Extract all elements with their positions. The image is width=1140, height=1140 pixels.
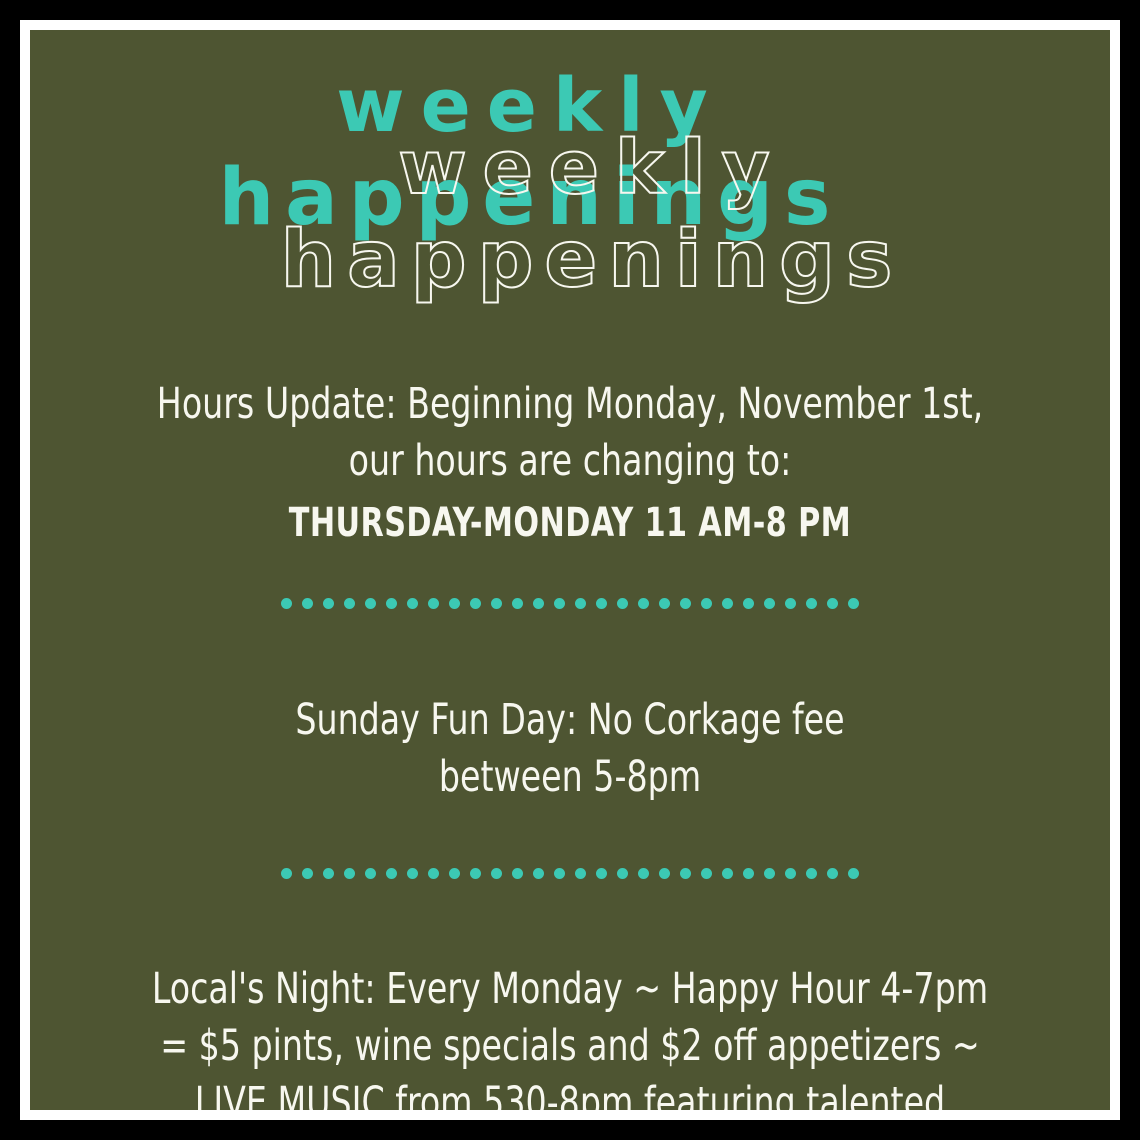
locals-line-1: Local's Night: Every Monday ~ Happy Hour… <box>106 961 1035 1018</box>
locals-lead: Local's Night <box>152 964 365 1014</box>
title-outline-line-1: weekly <box>52 122 1110 214</box>
divider-dot <box>575 868 586 879</box>
divider-dot <box>407 598 418 609</box>
sunday-line-1-rest: : No Corkage fee <box>566 695 845 745</box>
divider-dot <box>407 868 418 879</box>
divider-dot <box>617 868 628 879</box>
hours-line-2: our hours are changing to: <box>106 433 1035 490</box>
hours-schedule: THURSDAY-MONDAY 11 AM-8 PM <box>116 490 1023 552</box>
title-outline-line-2: happenings <box>52 214 1110 306</box>
divider-dot <box>512 868 523 879</box>
title-outline-layer: weekly happenings <box>52 122 1110 306</box>
divider-dot <box>680 598 691 609</box>
divider-dot <box>806 868 817 879</box>
divider-dot <box>785 868 796 879</box>
divider-dot <box>680 868 691 879</box>
divider-dot <box>428 598 439 609</box>
divider-dot <box>533 598 544 609</box>
poster-title: weekly happenings weekly happenings <box>30 60 1110 350</box>
divider-dot <box>344 868 355 879</box>
divider-dot <box>323 868 334 879</box>
divider-dot <box>848 598 859 609</box>
divider-dot <box>596 598 607 609</box>
divider-dot <box>722 598 733 609</box>
divider-dot <box>512 598 523 609</box>
divider-dot <box>470 868 481 879</box>
hours-line-1-rest: : Beginning Monday, November 1st, <box>385 379 983 429</box>
divider-dot <box>491 868 502 879</box>
divider-dot <box>428 868 439 879</box>
divider-dot <box>701 598 712 609</box>
hours-line-1: Hours Update: Beginning Monday, November… <box>106 376 1035 433</box>
divider-dot <box>491 598 502 609</box>
poster-canvas: weekly happenings weekly happenings Hour… <box>30 30 1110 1110</box>
divider-dot <box>365 868 376 879</box>
dotted-divider <box>30 868 1110 879</box>
divider-dot <box>386 868 397 879</box>
divider-dot <box>743 598 754 609</box>
divider-dot <box>659 598 670 609</box>
section-hours-update: Hours Update: Beginning Monday, November… <box>30 376 1110 552</box>
locals-line-3: LIVE MUSIC from 530-8pm featuring talent… <box>106 1075 1035 1110</box>
divider-dot <box>323 598 334 609</box>
divider-dot <box>827 868 838 879</box>
divider-dot <box>638 868 649 879</box>
divider-dot <box>554 868 565 879</box>
section-locals-night: Local's Night: Every Monday ~ Happy Hour… <box>30 961 1110 1110</box>
divider-dot <box>575 598 586 609</box>
hours-lead: Hours Update <box>157 379 386 429</box>
divider-dot <box>806 598 817 609</box>
divider-dot <box>302 868 313 879</box>
divider-dot <box>827 598 838 609</box>
sunday-line-2: between 5-8pm <box>106 749 1035 806</box>
divider-dot <box>596 868 607 879</box>
divider-dot <box>533 868 544 879</box>
divider-dot <box>785 598 796 609</box>
locals-line-1-rest: : Every Monday ~ Happy Hour 4-7pm <box>364 964 988 1014</box>
divider-dot <box>281 598 292 609</box>
divider-dot <box>848 868 859 879</box>
poster-content: Hours Update: Beginning Monday, November… <box>30 360 1110 1110</box>
divider-dot <box>743 868 754 879</box>
divider-dot <box>554 598 565 609</box>
divider-dot <box>365 598 376 609</box>
poster: weekly happenings weekly happenings Hour… <box>0 0 1140 1140</box>
divider-dot <box>470 598 481 609</box>
divider-dot <box>764 598 775 609</box>
divider-dot <box>344 598 355 609</box>
divider-dot <box>449 868 460 879</box>
section-sunday-fun-day: Sunday Fun Day: No Corkage fee between 5… <box>30 692 1110 806</box>
divider-dot <box>302 598 313 609</box>
sunday-line-1: Sunday Fun Day: No Corkage fee <box>106 692 1035 749</box>
divider-dot <box>449 598 460 609</box>
locals-line-2: = $5 pints, wine specials and $2 off app… <box>106 1018 1035 1075</box>
divider-dot <box>638 598 649 609</box>
poster-white-frame: weekly happenings weekly happenings Hour… <box>20 20 1120 1120</box>
divider-dot <box>659 868 670 879</box>
divider-dot <box>617 598 628 609</box>
sunday-lead: Sunday Fun Day <box>295 695 566 745</box>
divider-dot <box>722 868 733 879</box>
divider-dot <box>281 868 292 879</box>
divider-dot <box>701 868 712 879</box>
divider-dot <box>386 598 397 609</box>
dotted-divider <box>30 598 1110 609</box>
divider-dot <box>764 868 775 879</box>
